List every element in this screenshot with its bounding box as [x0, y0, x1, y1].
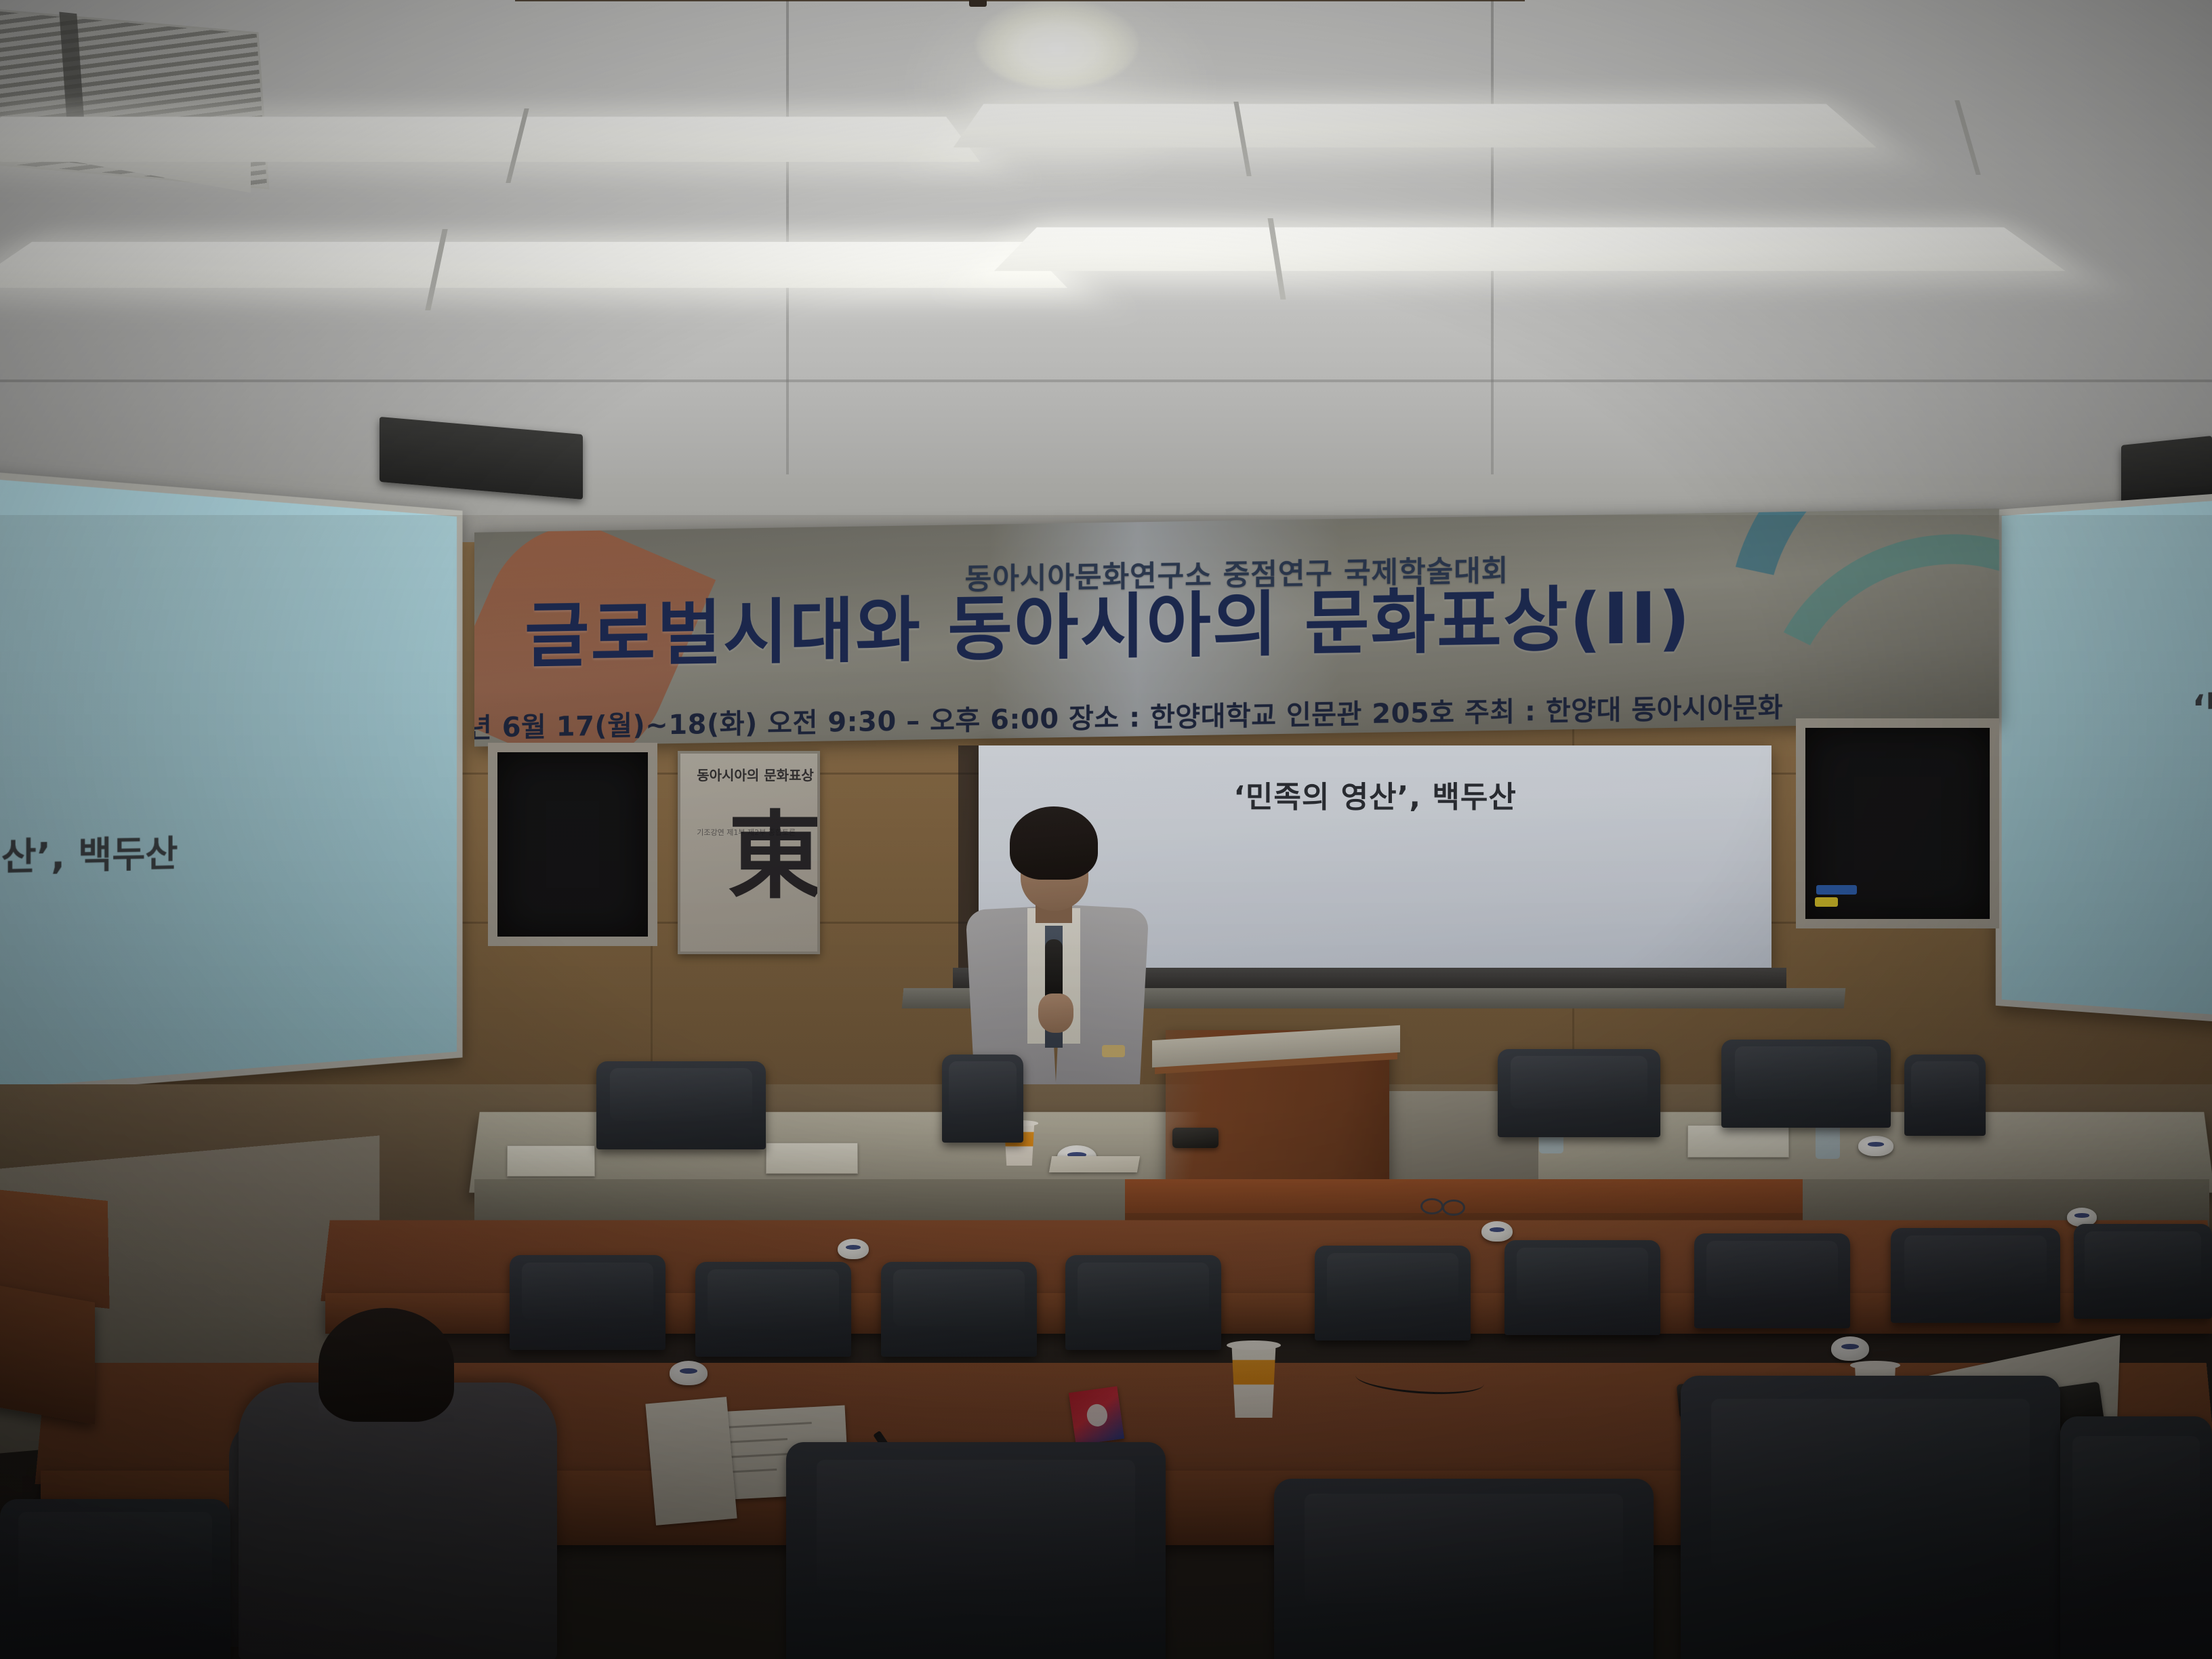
conference-chair: [1721, 1040, 1891, 1128]
mic-base-logo: [2074, 1213, 2089, 1217]
conference-chair: [881, 1262, 1037, 1357]
photo-scene: 영산’, 백두산 ‘민족 동아시아문화연구소 중점연구 국제학술대회 글로벌시대…: [0, 0, 2212, 1659]
conference-chair: [1504, 1240, 1660, 1335]
ceiling-light-panel: [954, 104, 1877, 147]
ceiling-light-panel: [0, 242, 1067, 288]
left-projection-screen: 영산’, 백두산: [0, 470, 463, 1097]
conference-chair: [695, 1262, 851, 1357]
seated-audience-member: [239, 1382, 557, 1659]
conference-chair: [1498, 1049, 1660, 1137]
banner-clip: [969, 0, 987, 7]
eyeglasses: [1420, 1198, 1443, 1214]
mic-base-logo: [846, 1245, 861, 1250]
ceiling-seam: [0, 380, 2212, 382]
conference-chair: [510, 1255, 665, 1350]
conference-chair: [1065, 1255, 1221, 1350]
poster-kanji-east: 東: [728, 809, 820, 904]
left-screen-text: 영산’, 백두산: [0, 825, 178, 882]
microphone-base: [1481, 1221, 1513, 1242]
wristwatch: [1102, 1045, 1125, 1057]
conference-chair: [786, 1442, 1166, 1659]
audience-head: [319, 1308, 454, 1422]
cup-body: [1228, 1343, 1279, 1418]
mic-base-logo: [1868, 1142, 1885, 1147]
loose-papers: [645, 1397, 737, 1525]
microphone-base: [838, 1239, 869, 1259]
banner-rod: [515, 0, 1525, 1]
yellow-chalk: [1815, 897, 1838, 907]
name-plate: [1687, 1125, 1789, 1158]
microphone-base: [1858, 1136, 1893, 1156]
mic-base-logo: [1841, 1344, 1860, 1349]
conference-chair: [596, 1061, 766, 1149]
presenter-hair: [1010, 806, 1098, 880]
conference-chair: [1315, 1246, 1471, 1340]
conference-chair: [1904, 1054, 1986, 1136]
name-plate: [766, 1143, 858, 1174]
ceiling-light-panel: [994, 227, 2066, 270]
conference-chair: [1274, 1479, 1654, 1659]
microphone-base: [1831, 1336, 1869, 1361]
red-snack-package: [1069, 1386, 1124, 1445]
snack-logo: [1085, 1403, 1108, 1428]
ceiling-light-panel: [0, 117, 980, 162]
blackboard: [1796, 718, 1999, 928]
mic-base-logo: [680, 1368, 698, 1374]
conference-banner: 동아시아문화연구소 중점연구 국제학술대회 글로벌시대와 동아시아의 문화표상(…: [474, 508, 1999, 746]
poster-title: 동아시아의 문화표상: [697, 767, 814, 784]
presenter-hand: [1038, 994, 1073, 1033]
conference-chair: [1681, 1376, 2060, 1659]
audience-table-front: [0, 1281, 95, 1425]
conference-chair: [1891, 1228, 2060, 1323]
paper-cup: [1228, 1343, 1279, 1418]
conference-chair: [2060, 1416, 2212, 1659]
conference-chair: [942, 1054, 1023, 1143]
name-plate: [507, 1145, 595, 1176]
camera-equipment: [1172, 1128, 1218, 1148]
blue-chalk: [1816, 885, 1857, 895]
right-projection-screen: ‘민족: [1996, 490, 2212, 1026]
conference-chair: [1694, 1233, 1850, 1328]
wall-poster: 동아시아의 문화표상 기조강연 제1부 제2부 종합토론 東: [678, 751, 820, 954]
loose-papers: [1049, 1156, 1140, 1172]
blackboard: [488, 743, 657, 946]
right-screen-text: ‘민족: [2192, 677, 2212, 731]
conference-chair: [0, 1499, 230, 1659]
microphone-base: [670, 1361, 708, 1385]
cup-rim: [1227, 1340, 1282, 1350]
conference-chair: [2074, 1224, 2212, 1319]
spotlight-icon: [976, 0, 1139, 88]
eyeglasses: [1442, 1200, 1465, 1216]
mic-base-logo: [1490, 1227, 1504, 1232]
